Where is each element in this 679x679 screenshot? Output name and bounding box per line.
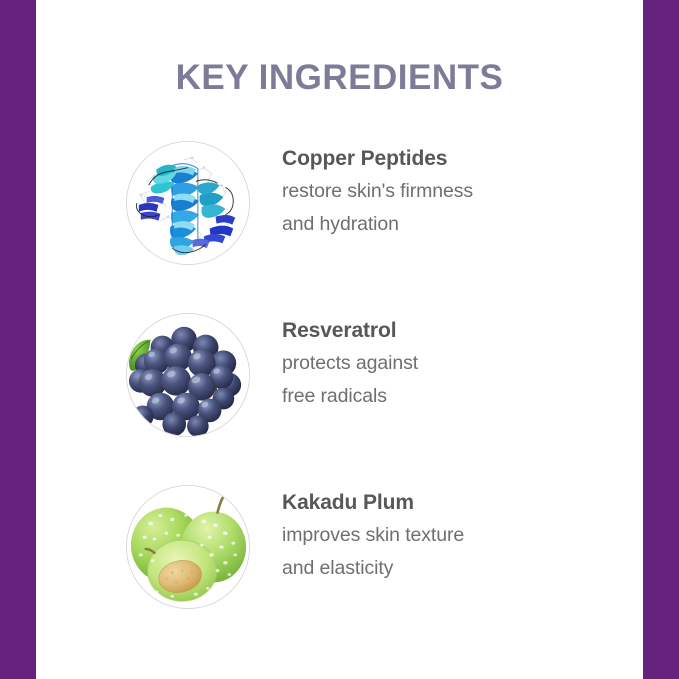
ingredient-description: protects against free radicals <box>282 347 622 413</box>
ingredients-poster: KEY INGREDIENTS <box>0 0 679 679</box>
ingredient-text-block: Copper Peptides restore skin's firmness … <box>282 145 622 241</box>
left-purple-band <box>0 0 36 679</box>
ingredient-description: improves skin texture and elasticity <box>282 519 622 585</box>
ingredient-description: restore skin's firmness and hydration <box>282 175 622 241</box>
ingredient-description-line: and hydration <box>282 208 622 241</box>
list-item: Copper Peptides restore skin's firmness … <box>36 136 643 308</box>
dark-grapes-cluster-image <box>126 313 250 437</box>
page-title: KEY INGREDIENTS <box>36 58 643 98</box>
ingredient-description-line: improves skin texture <box>282 519 622 552</box>
right-purple-band <box>643 0 679 679</box>
list-item: Resveratrol protects against free radica… <box>36 308 643 480</box>
poster-content: KEY INGREDIENTS <box>36 0 643 679</box>
ingredient-text-block: Kakadu Plum improves skin texture and el… <box>282 489 622 585</box>
ingredient-name: Resveratrol <box>282 317 622 345</box>
ingredient-description-line: protects against <box>282 347 622 380</box>
list-item: Kakadu Plum improves skin texture and el… <box>36 480 643 652</box>
ingredient-description-line: free radicals <box>282 380 622 413</box>
green-plums-image <box>126 485 250 609</box>
protein-ribbon-structure-image <box>126 141 250 265</box>
ingredient-description-line: restore skin's firmness <box>282 175 622 208</box>
ingredients-list: Copper Peptides restore skin's firmness … <box>36 136 643 652</box>
ingredient-text-block: Resveratrol protects against free radica… <box>282 317 622 413</box>
ingredient-name: Copper Peptides <box>282 145 622 173</box>
ingredient-name: Kakadu Plum <box>282 489 622 517</box>
ingredient-description-line: and elasticity <box>282 552 622 585</box>
